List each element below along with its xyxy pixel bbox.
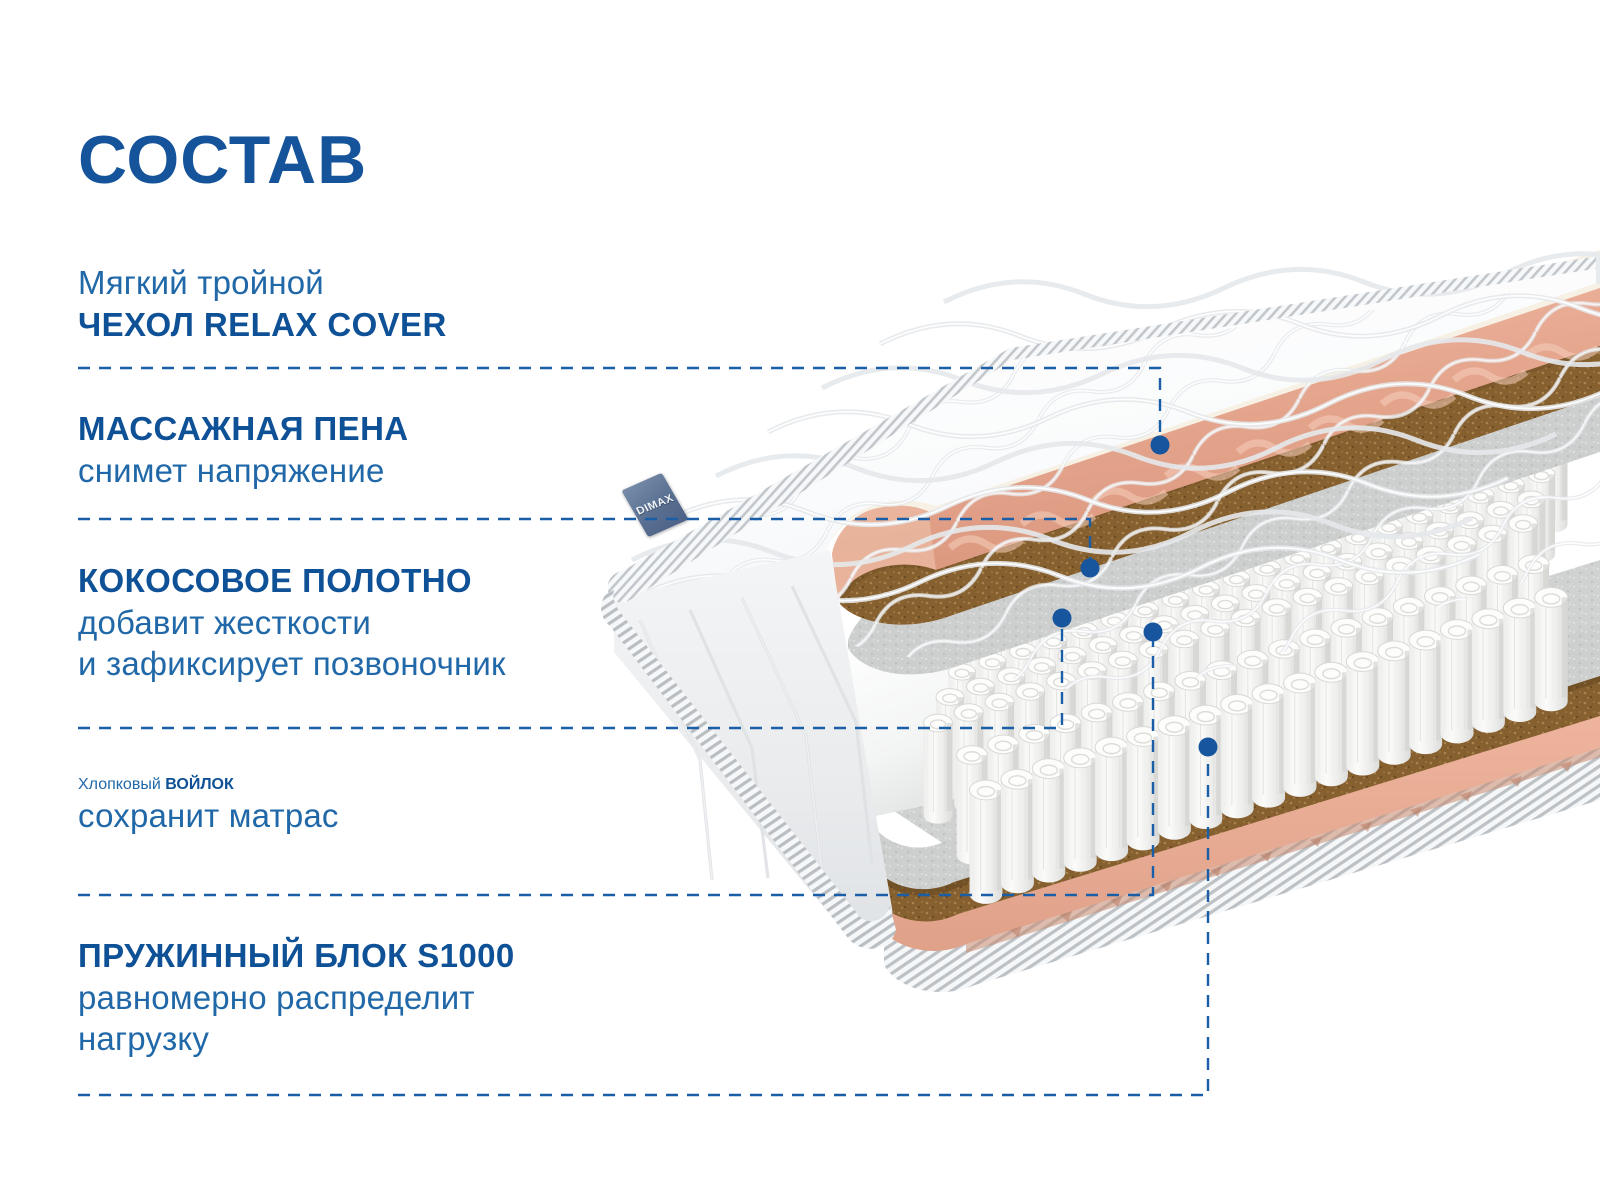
pocket-spring	[985, 693, 1014, 802]
felt-line-1: Хлопковый ВОЙЛОК	[78, 775, 339, 795]
pocket-spring	[1481, 463, 1507, 553]
pocket-spring	[1284, 673, 1317, 797]
felt-line-1-light: Хлопковый	[78, 776, 165, 793]
leader-dot-cover	[1151, 436, 1170, 455]
pocket-spring	[1108, 651, 1137, 760]
pocket-spring	[949, 664, 976, 760]
pocket-spring	[1334, 553, 1362, 656]
layer-label-felt: Хлопковый ВОЙЛОК сохранит матрас	[78, 775, 339, 837]
pocket-spring	[1232, 609, 1261, 718]
pocket-spring	[1132, 602, 1159, 698]
pocket-spring	[1189, 705, 1222, 829]
pocket-spring	[1498, 477, 1525, 573]
pocket-spring	[1016, 683, 1045, 792]
pocket-spring	[997, 668, 1025, 771]
pocket-spring	[1315, 662, 1348, 786]
pocket-spring	[956, 746, 987, 865]
pocket-spring	[1345, 529, 1372, 625]
pocket-spring	[1206, 557, 1232, 647]
pocket-spring	[1420, 484, 1446, 574]
pocket-spring	[1040, 633, 1067, 729]
pocket-spring	[1406, 508, 1433, 604]
pocket-spring	[1237, 547, 1263, 637]
pocket-spring	[1328, 515, 1354, 605]
pocket-spring	[1047, 672, 1076, 781]
coir-line-3: и зафиксирует позвоночник	[78, 643, 506, 685]
spring-line-2: равномерно распределит	[78, 977, 515, 1019]
felt-line-1-bold: ВОЙЛОК	[165, 776, 234, 793]
pocket-spring	[1252, 684, 1285, 808]
pocket-spring	[1254, 560, 1281, 656]
pocket-spring	[1193, 581, 1220, 677]
pocket-spring	[1127, 727, 1160, 851]
pocket-spring	[1001, 769, 1034, 893]
pocket-spring	[993, 630, 1019, 720]
pocket-spring	[1064, 748, 1097, 872]
pocket-spring	[1511, 453, 1537, 543]
layer-label-spring: ПРУЖИННЫЙ БЛОК S1000 равномерно распреде…	[78, 935, 515, 1060]
pocket-spring	[1393, 597, 1424, 716]
pocket-spring	[1158, 716, 1191, 840]
pocket-spring	[1487, 501, 1515, 604]
pocket-spring	[1426, 522, 1454, 625]
pocket-spring	[988, 735, 1019, 854]
leader-dot-spring	[1199, 738, 1218, 757]
layer-label-coir: КОКОСОВОЕ ПОЛОТНО добавит жесткости и за…	[78, 560, 506, 685]
leader-dot-coir	[1053, 609, 1072, 628]
pocket-spring	[1089, 637, 1117, 740]
layer-label-foam: МАССАЖНАЯ ПЕНА снимет напряжение	[78, 408, 409, 491]
pocket-spring	[936, 689, 964, 792]
pocket-spring	[1425, 587, 1456, 706]
spring-line-3: нагрузку	[78, 1018, 515, 1060]
pocket-spring	[1509, 515, 1538, 624]
cover-line-1: Мягкий тройной	[78, 262, 447, 304]
pocket-spring	[1467, 487, 1494, 583]
pocket-spring	[1409, 630, 1442, 754]
pocket-spring	[1395, 533, 1423, 636]
pocket-spring	[1386, 557, 1415, 666]
pocket-spring	[1298, 526, 1324, 616]
pocket-spring	[1206, 661, 1237, 780]
felt-line-2: сохранит матрас	[78, 795, 339, 837]
leader-dot-foam	[1081, 559, 1100, 578]
pocket-spring	[1145, 578, 1171, 668]
pocket-spring	[1364, 543, 1392, 646]
pocket-spring	[1150, 616, 1178, 719]
coir-line-2: добавит жесткости	[78, 602, 506, 644]
pocket-spring	[1071, 622, 1098, 718]
pocket-spring	[1181, 605, 1209, 708]
page-title: СОСТАВ	[78, 126, 367, 194]
cover-line-2: ЧЕХОЛ RELAX COVER	[78, 304, 447, 346]
pocket-spring	[1362, 608, 1393, 727]
pocket-spring	[1010, 643, 1037, 739]
coir-line-1: КОКОСОВОЕ ПОЛОТНО	[78, 560, 506, 602]
pocket-spring	[1211, 595, 1239, 698]
pocket-spring	[1023, 619, 1049, 709]
pocket-spring	[1028, 657, 1056, 760]
pocket-spring	[1175, 672, 1206, 791]
pocket-spring	[1355, 567, 1384, 676]
pocket-spring	[1273, 574, 1301, 677]
pocket-spring	[1359, 505, 1385, 595]
pocket-spring	[1221, 695, 1254, 819]
pocket-spring	[967, 678, 995, 781]
pocket-spring	[1170, 630, 1199, 739]
pocket-spring	[924, 714, 953, 823]
pocket-spring	[1162, 591, 1189, 687]
pocket-spring	[1139, 641, 1168, 750]
pocket-spring	[1269, 640, 1300, 759]
pocket-spring	[1300, 629, 1331, 748]
pocket-spring	[1237, 650, 1268, 769]
pocket-spring	[1095, 737, 1128, 861]
infographic-canvas: СОСТАВ	[0, 0, 1600, 1200]
pocket-spring	[1293, 588, 1322, 697]
brand-tag: DIMAX	[621, 473, 688, 538]
pocket-spring	[970, 780, 1003, 904]
pocket-spring	[1331, 619, 1362, 738]
pocket-spring	[1456, 576, 1487, 695]
pocket-spring	[1376, 518, 1403, 614]
pocket-spring	[1223, 570, 1250, 666]
pocket-spring	[1201, 620, 1230, 729]
pocket-spring	[1542, 443, 1568, 533]
pocket-spring	[1517, 491, 1545, 594]
pocket-spring	[962, 640, 988, 730]
pocket-spring	[1081, 703, 1112, 822]
pocket-spring	[1437, 498, 1464, 594]
pocket-spring	[1084, 599, 1110, 689]
pocket-spring	[1315, 539, 1342, 635]
pocket-spring	[1447, 536, 1476, 645]
pocket-spring	[1456, 512, 1484, 615]
pocket-spring	[1019, 725, 1050, 844]
pocket-spring	[1416, 546, 1445, 655]
pocket-spring	[979, 654, 1006, 750]
pocket-spring	[1032, 759, 1065, 883]
pocket-spring	[1267, 536, 1293, 626]
foam-line-2: снимет напряжение	[78, 450, 409, 492]
pocket-spring	[1050, 714, 1081, 833]
pocket-spring	[1144, 682, 1175, 801]
pocket-spring	[1303, 564, 1331, 667]
pocket-spring	[1284, 550, 1311, 646]
pocket-spring	[1115, 588, 1141, 678]
pocket-spring	[1503, 598, 1536, 722]
pocket-spring	[1176, 567, 1202, 657]
pocket-spring	[1478, 525, 1507, 634]
pocket-spring	[954, 704, 983, 813]
leader-dot-felt	[1144, 623, 1163, 642]
pocket-spring	[1487, 566, 1518, 685]
pocket-spring	[1378, 641, 1411, 765]
pocket-spring	[1058, 647, 1086, 750]
pocket-spring	[1518, 555, 1549, 674]
pocket-spring	[1441, 620, 1474, 744]
foam-line-1: МАССАЖНАЯ ПЕНА	[78, 408, 409, 450]
pocket-spring	[1262, 599, 1291, 708]
pocket-spring	[1054, 609, 1080, 699]
pocket-spring	[1535, 588, 1568, 712]
pocket-spring	[1450, 474, 1476, 564]
pocket-spring	[1242, 585, 1270, 688]
pocket-spring	[1101, 612, 1128, 708]
pocket-spring	[1120, 626, 1148, 729]
spring-line-1: ПРУЖИННЫЙ БЛОК S1000	[78, 935, 515, 977]
layer-label-cover: Мягкий тройной ЧЕХОЛ RELAX COVER	[78, 262, 447, 345]
pocket-spring	[1113, 693, 1144, 812]
brand-tag-label: DIMAX	[634, 492, 676, 517]
pocket-spring	[1389, 495, 1415, 585]
pocket-spring	[1078, 662, 1107, 771]
pocket-spring	[1528, 466, 1555, 562]
pocket-spring	[1346, 652, 1379, 776]
pocket-spring	[1472, 609, 1505, 733]
pocket-spring	[1324, 578, 1353, 687]
